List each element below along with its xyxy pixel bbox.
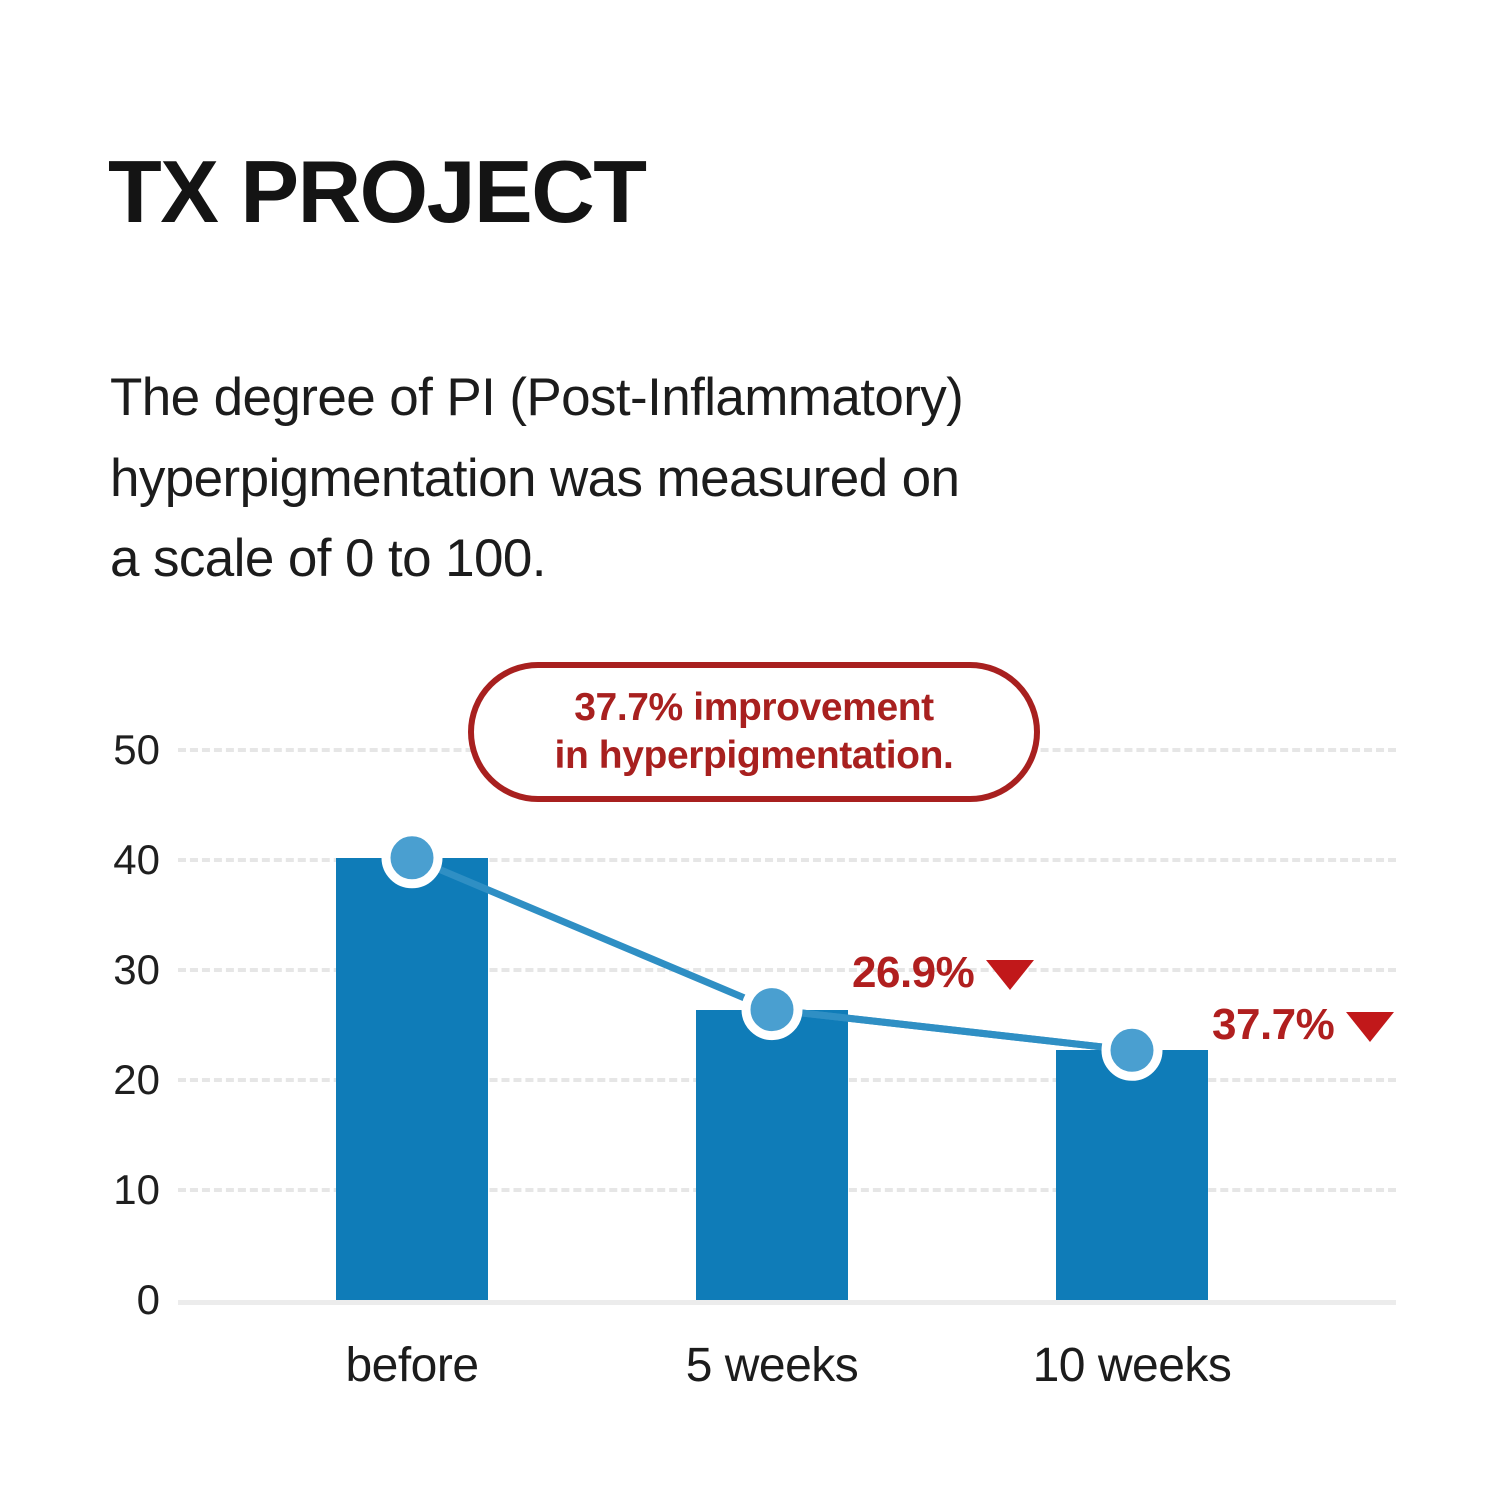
y-tick-label-10: 10 bbox=[50, 1166, 160, 1214]
y-tick-label-50: 50 bbox=[50, 726, 160, 774]
triangle-down-icon bbox=[1346, 1012, 1394, 1042]
callout-line-2: in hyperpigmentation. bbox=[555, 732, 954, 780]
bar-10-weeks[interactable] bbox=[1056, 1050, 1208, 1300]
delta-badge-5-weeks: 26.9% bbox=[852, 948, 1034, 998]
y-tick-label-40: 40 bbox=[50, 836, 160, 884]
delta-value-5-weeks: 26.9% bbox=[852, 948, 974, 998]
infographic-page: TX PROJECT The degree of PI (Post-Inflam… bbox=[0, 0, 1500, 1500]
bar-before[interactable] bbox=[336, 858, 488, 1300]
y-tick-label-0: 0 bbox=[50, 1276, 160, 1324]
gridline-0 bbox=[178, 1300, 1396, 1305]
delta-value-10-weeks: 37.7% bbox=[1212, 1000, 1334, 1050]
improvement-callout: 37.7% improvement in hyperpigmentation. bbox=[468, 662, 1040, 802]
x-axis-label-5-weeks: 5 weeks bbox=[686, 1338, 859, 1393]
delta-badge-10-weeks: 37.7% bbox=[1212, 1000, 1394, 1050]
y-tick-label-20: 20 bbox=[50, 1056, 160, 1104]
bar-chart: 01020304050 before5 weeks10 weeks 37.7% … bbox=[0, 0, 1500, 1500]
callout-line-1: 37.7% improvement bbox=[574, 684, 934, 732]
triangle-down-icon bbox=[986, 960, 1034, 990]
bar-5-weeks[interactable] bbox=[696, 1010, 848, 1300]
x-axis-label-10-weeks: 10 weeks bbox=[1033, 1338, 1232, 1393]
y-tick-label-30: 30 bbox=[50, 946, 160, 994]
x-axis-label-before: before bbox=[345, 1338, 478, 1393]
